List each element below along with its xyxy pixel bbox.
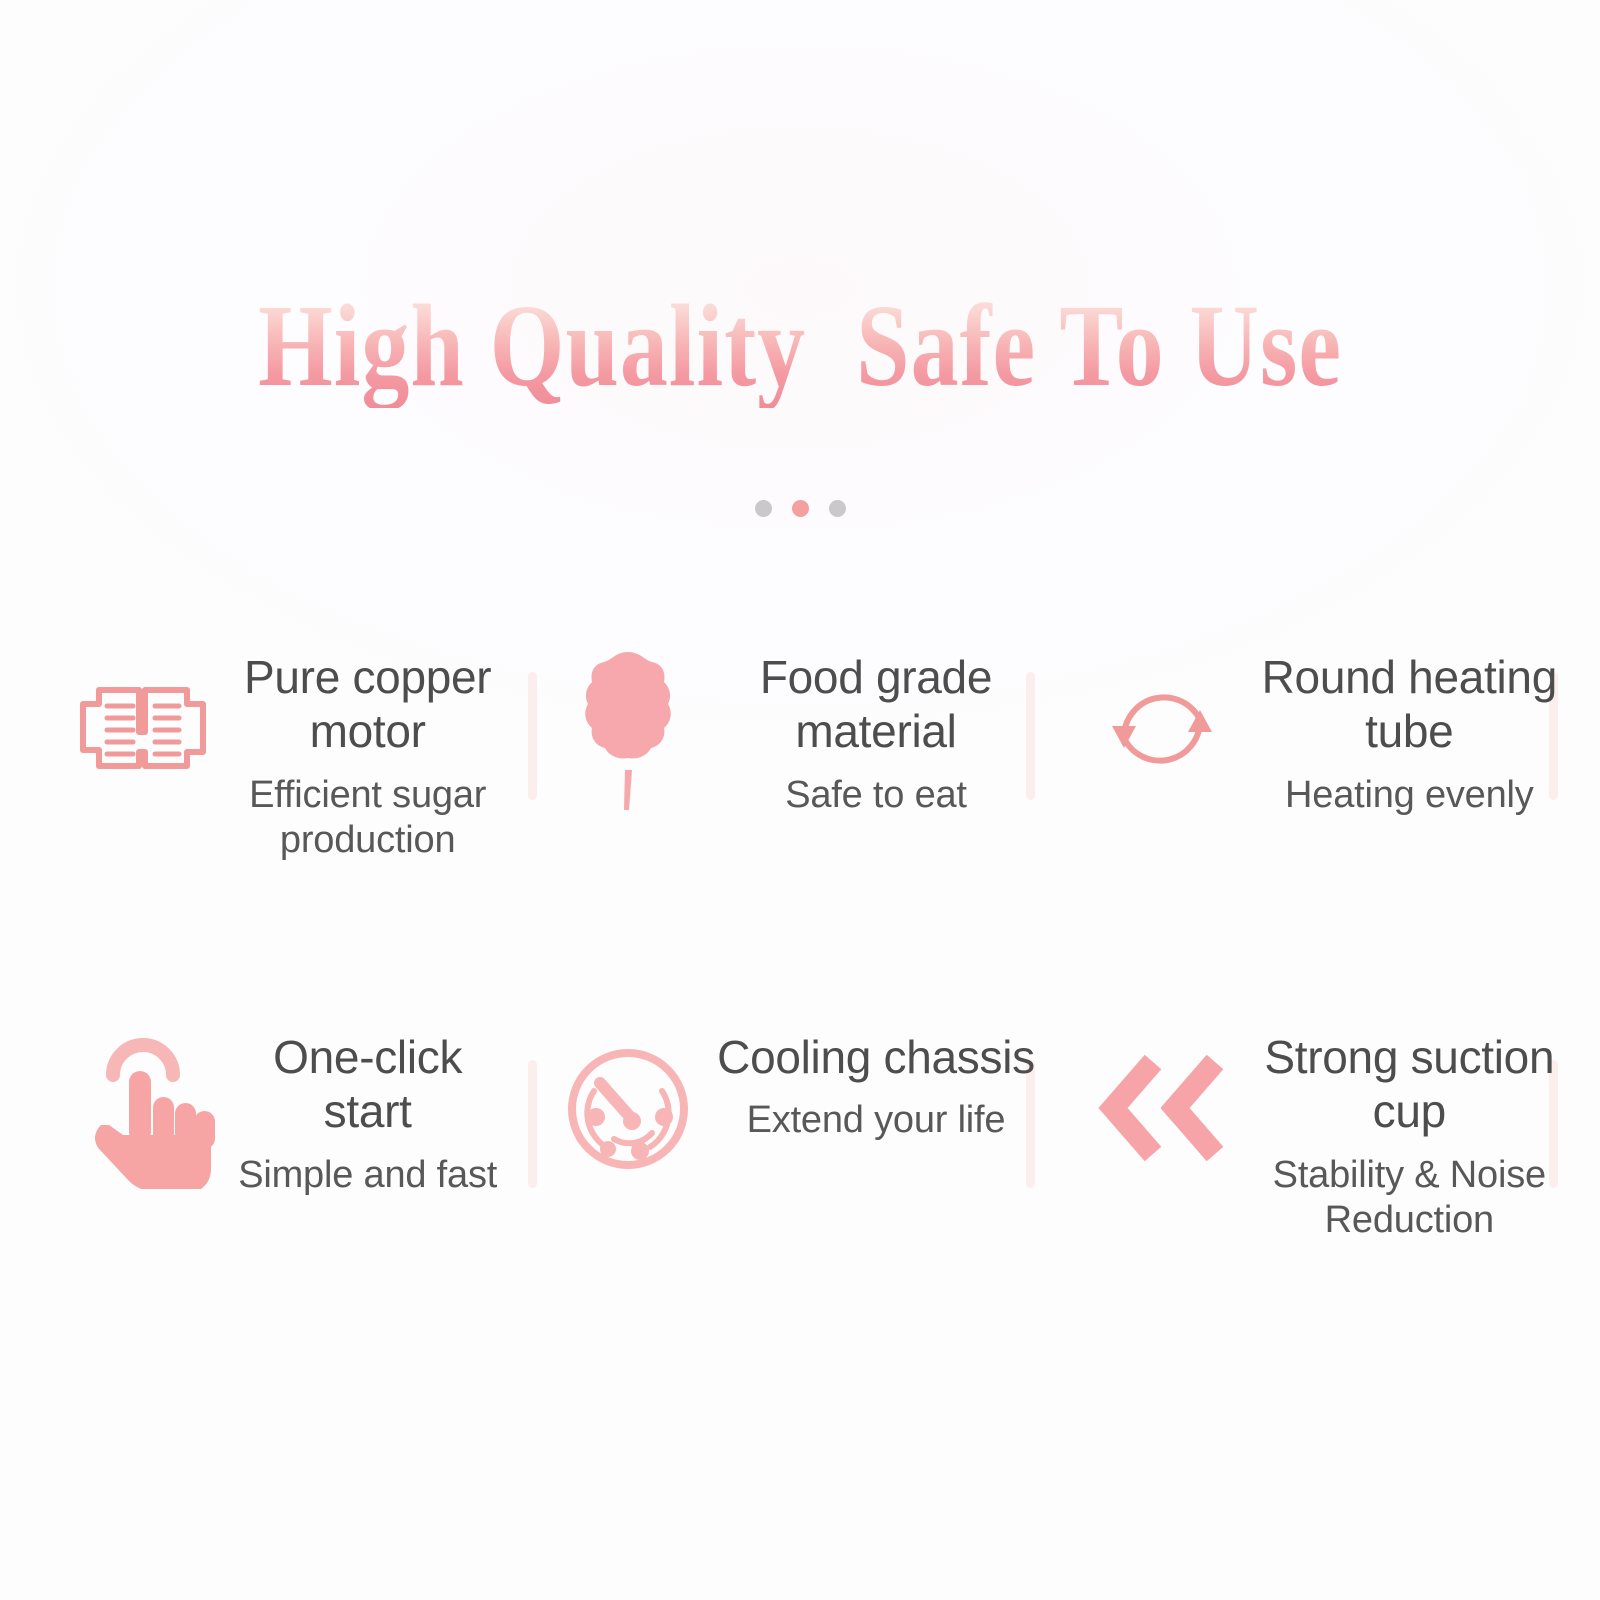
feature-item-one-click-start: One-click start Simple and fast — [0, 1000, 533, 1300]
feature-item-pure-copper-motor: Pure copper motor Efficient sugar produc… — [0, 620, 533, 920]
feature-title: Strong suction cup — [1247, 1030, 1572, 1139]
feature-subtitle: Extend your life — [713, 1098, 1038, 1144]
feature-item-food-grade-material: Food grade material Safe to eat — [533, 620, 1066, 920]
dot-center-icon — [792, 500, 809, 517]
tap-hand-icon — [60, 1024, 230, 1194]
dot-left-icon — [755, 500, 772, 517]
infographic-page: High Quality Safe To Use — [0, 0, 1600, 1600]
feature-subtitle: Heating evenly — [1247, 773, 1572, 819]
feature-item-round-heating-tube: Round heating tube Heating evenly — [1067, 620, 1600, 920]
title-container: High Quality Safe To Use — [0, 285, 1600, 386]
feature-text: Strong suction cup Stability & Noise Red… — [1247, 1010, 1600, 1244]
gauge-icon — [543, 1024, 713, 1194]
double-chevron-icon — [1077, 1024, 1247, 1194]
dot-right-icon — [829, 500, 846, 517]
feature-title: Food grade material — [713, 650, 1038, 759]
feature-title: Round heating tube — [1247, 650, 1572, 759]
motor-icon — [60, 644, 230, 814]
feature-text: Round heating tube Heating evenly — [1247, 630, 1600, 818]
feature-text: One-click start Simple and fast — [230, 1010, 533, 1198]
feature-title: Pure copper motor — [230, 650, 505, 759]
feature-item-strong-suction-cup: Strong suction cup Stability & Noise Red… — [1067, 1000, 1600, 1300]
cotton-candy-icon — [543, 644, 713, 814]
rotation-cycle-icon — [1077, 644, 1247, 814]
feature-title: Cooling chassis — [713, 1030, 1038, 1084]
feature-text: Food grade material Safe to eat — [713, 630, 1066, 818]
feature-subtitle: Stability & Noise Reduction — [1247, 1153, 1572, 1244]
dot-separator — [0, 500, 1600, 517]
page-title: High Quality Safe To Use — [258, 285, 1342, 408]
feature-grid: Pure copper motor Efficient sugar produc… — [0, 620, 1600, 1300]
feature-subtitle: Safe to eat — [713, 773, 1038, 819]
feature-item-cooling-chassis: Cooling chassis Extend your life — [533, 1000, 1066, 1300]
feature-subtitle: Simple and fast — [230, 1153, 505, 1199]
feature-title: One-click start — [230, 1030, 505, 1139]
feature-text: Pure copper motor Efficient sugar produc… — [230, 630, 533, 864]
feature-text: Cooling chassis Extend your life — [713, 1010, 1066, 1144]
feature-subtitle: Efficient sugar production — [230, 773, 505, 864]
